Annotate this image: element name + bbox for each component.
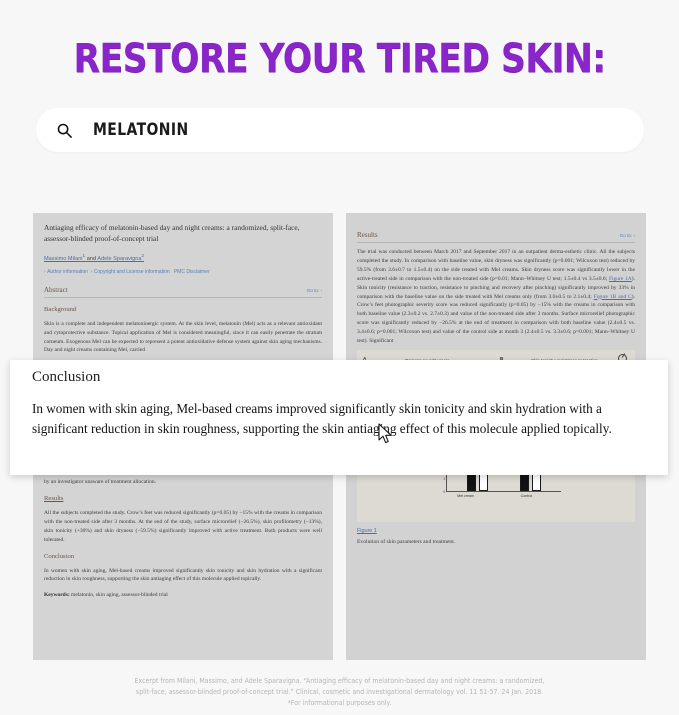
results-heading-right: Results [357,231,378,239]
conclusion-heading-left: Conclusion [44,553,322,560]
panel-c-cat-2: Control [515,494,537,498]
search-input[interactable]: MELATONIN [93,120,189,140]
figure-1a-link[interactable]: Figure 1A [609,276,632,282]
conclusion-callout-body: In women with skin aging, Mel-based crea… [32,399,646,440]
panel-c-xlabels: Mel cream Control [431,494,561,498]
pmc-disclaimer-link[interactable]: PMC Disclaimer [174,269,210,275]
search-icon [56,122,73,139]
conclusion-callout-title: Conclusion [32,369,646,386]
conclusion-text-left: In women with skin aging, Mel-based crea… [44,567,322,585]
goto-link-right[interactable]: Go to: › [620,233,635,238]
figure-1bc-link[interactable]: Figure 1B and C [594,294,632,300]
figure-1-caption: Evolution of skin parameters and treatme… [357,539,635,545]
conclusion-callout: Conclusion In women with skin aging, Mel… [10,360,668,475]
keywords-line: Keywords: melatonin, skin aging, assesso… [44,592,322,598]
figure-1-link[interactable]: Figure 1 [357,528,635,534]
paper-meta-links: › Author information › Copyright and Lic… [44,269,322,277]
background-heading: Background [44,306,322,313]
results-section-header: Results Go to: › [357,231,635,243]
citation-footer: Excerpt from Milani, Massimo, and Adele … [17,676,662,709]
keywords-label: Keywords: [44,592,70,598]
copyright-link[interactable]: Copyright and License information [94,269,170,275]
goto-link[interactable]: Go to: › [307,288,322,293]
author-join: and [85,256,97,262]
keywords-value: melatonin, skin aging, assessor-blinded … [70,592,168,598]
author-information-link[interactable]: Author information [47,269,88,275]
results-text-right: The trial was conducted between March 20… [357,248,635,346]
paper-authors: Massimo Milani1 and Adele Sparavigna2 [44,252,322,263]
author-1[interactable]: Massimo Milani [44,256,83,262]
results-para-1: The trial was conducted between March 20… [357,249,635,282]
citation-line-3: *For informational purposes only. [83,698,595,709]
background-text: Skin is a complete and independent melat… [44,320,322,356]
results-para-3: ). Crow’s feet photographic severity sco… [357,294,635,345]
citation-line-2: split-face, assessor-blinded proof-of-co… [83,687,595,698]
page-title: RESTORE YOUR TIRED SKIN: [48,36,632,82]
author-2[interactable]: Adele Sparavigna [97,256,141,262]
abstract-section-header: Abstract Go to: › [44,286,322,298]
citation-line-1: Excerpt from Milani, Massimo, and Adele … [83,676,595,687]
author-2-sup: 2 [141,253,144,258]
results-heading-left: Results [44,495,322,502]
panel-c-cat-1: Mel cream [455,494,477,498]
abstract-heading: Abstract [44,286,68,294]
paper-title: Antiaging efficacy of melatonin-based da… [44,222,322,245]
search-bar[interactable]: MELATONIN [36,108,644,152]
results-text-left: All the subjects completed the study. Cr… [44,509,322,545]
